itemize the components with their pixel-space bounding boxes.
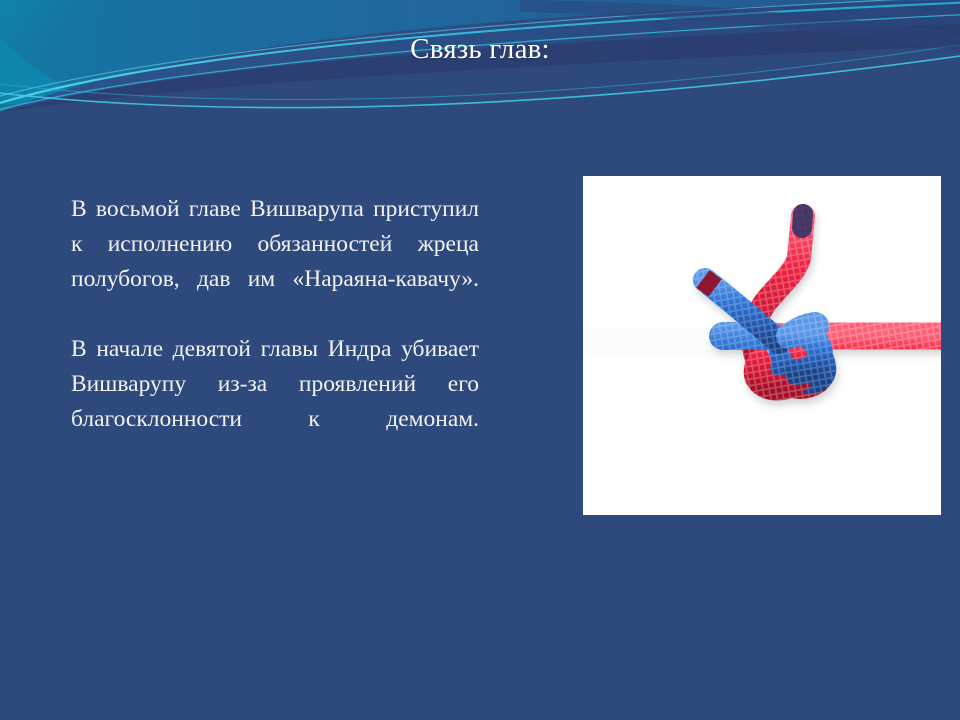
slide: Связь глав: В восьмой главе Вишварупа пр… bbox=[0, 0, 960, 720]
paragraph-spacer bbox=[71, 297, 479, 332]
body-text-block: В восьмой главе Вишварупа приступил к ис… bbox=[71, 192, 479, 437]
paragraph-chapter-eight: В восьмой главе Вишварупа приступил к ис… bbox=[71, 192, 479, 297]
page-title: Связь глав: bbox=[0, 32, 960, 66]
paragraph-chapter-nine: В начале девятой главы Индра убивает Виш… bbox=[71, 332, 479, 437]
rope-knot-photo bbox=[583, 176, 941, 515]
